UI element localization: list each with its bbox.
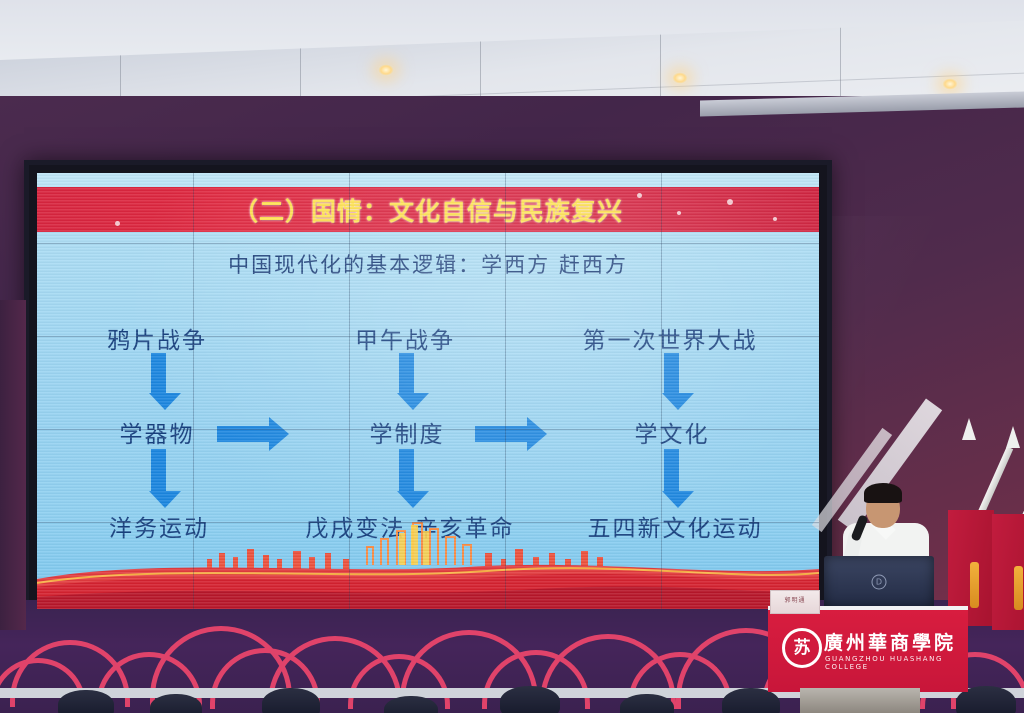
audience-head bbox=[150, 694, 202, 713]
slide-cell-event-1: 鸦片战争 bbox=[67, 321, 247, 355]
college-name-en: GUANGZHOU HUASHANG COLLEGE bbox=[825, 655, 968, 671]
dell-logo-icon: D bbox=[872, 575, 887, 590]
arrow-right-icon bbox=[475, 417, 547, 451]
wall-left-pillar bbox=[0, 300, 26, 630]
lecture-hall-photo: （二）国情：文化自信与民族复兴 中国现代化的基本逻辑：学西方 赶西方 鸦片战争 … bbox=[0, 0, 1024, 713]
podium-base bbox=[800, 688, 920, 713]
downlight-icon bbox=[942, 78, 958, 90]
downlight-icon bbox=[672, 72, 688, 84]
flag-tassel bbox=[970, 562, 979, 608]
banner-sparkle bbox=[677, 211, 681, 215]
arrow-down-icon bbox=[662, 353, 680, 410]
slide-title: （二）国情：文化自信与民族复兴 bbox=[233, 192, 623, 228]
audience-head bbox=[500, 686, 560, 713]
slide-title-banner: （二）国情：文化自信与民族复兴 bbox=[37, 187, 819, 232]
slide-footer-graphic bbox=[37, 513, 819, 609]
slide-cell-event-3: 第一次世界大战 bbox=[555, 321, 785, 355]
red-wave-skyline-icon bbox=[37, 513, 819, 609]
audience-head bbox=[262, 688, 320, 713]
slide-surface: （二）国情：文化自信与民族复兴 中国现代化的基本逻辑：学西方 赶西方 鸦片战争 … bbox=[37, 173, 819, 609]
banner-sparkle bbox=[115, 221, 120, 226]
arrow-down-icon bbox=[149, 449, 167, 508]
audience-head bbox=[58, 690, 114, 713]
college-name-cn: 廣州華商學院 bbox=[824, 628, 956, 655]
audience-head bbox=[620, 694, 674, 713]
speaker-hair bbox=[864, 483, 902, 503]
arrow-down-icon bbox=[397, 449, 415, 508]
slide-cell-learn-2: 学制度 bbox=[327, 415, 487, 449]
flag-tassel bbox=[1014, 566, 1023, 610]
arrow-down-icon bbox=[149, 353, 167, 410]
college-logo-icon: 苏 bbox=[782, 628, 822, 668]
arrow-down-icon bbox=[397, 353, 415, 410]
slide-cell-event-2: 甲午战争 bbox=[315, 321, 495, 355]
banner-sparkle bbox=[637, 193, 642, 198]
downlight-icon bbox=[378, 64, 394, 76]
banner-sparkle bbox=[773, 217, 777, 221]
slide-cell-learn-3: 学文化 bbox=[592, 415, 752, 449]
dell-laptop[interactable]: D bbox=[824, 556, 934, 608]
name-placard-text: 郭明通 bbox=[771, 595, 819, 604]
podium: 苏 廣州華商學院 GUANGZHOU HUASHANG COLLEGE bbox=[768, 606, 968, 692]
slide-subtitle: 中国现代化的基本逻辑：学西方 赶西方 bbox=[37, 249, 819, 279]
slide-cell-learn-1: 学器物 bbox=[77, 415, 237, 449]
name-placard: 郭明通 bbox=[770, 590, 820, 614]
arrow-down-icon bbox=[662, 449, 680, 508]
arrow-right-icon bbox=[217, 417, 289, 451]
banner-sparkle bbox=[727, 199, 733, 205]
led-video-wall[interactable]: （二）国情：文化自信与民族复兴 中国现代化的基本逻辑：学西方 赶西方 鸦片战争 … bbox=[24, 160, 832, 622]
